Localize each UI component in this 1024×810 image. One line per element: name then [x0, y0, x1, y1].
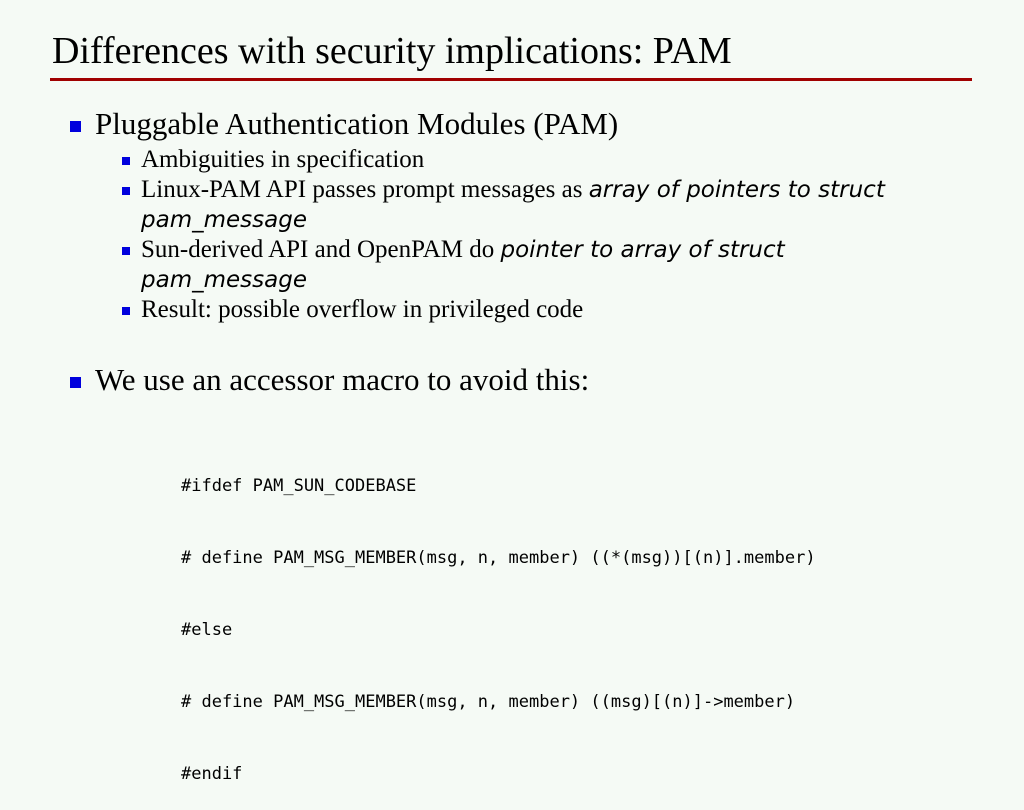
bullet-label: We use an accessor macro to avoid this: — [95, 362, 589, 397]
code-line: #else — [181, 618, 816, 642]
square-bullet-icon — [70, 377, 81, 388]
code-block: #ifdef PAM_SUN_CODEBASE # define PAM_MSG… — [181, 426, 816, 810]
bullet-spacer — [0, 325, 1024, 360]
bullet-label-prefix: Linux-PAM API passes prompt messages as — [141, 176, 589, 203]
square-bullet-icon — [122, 307, 130, 315]
bullet-item-level2: Linux-PAM API passes prompt messages as … — [0, 175, 1024, 235]
bullet-item-level2: Result: possible overflow in privileged … — [0, 295, 1024, 325]
square-bullet-icon — [70, 121, 81, 132]
bullet-label-prefix: Sun-derived API and OpenPAM do — [141, 236, 501, 263]
slide-title-block: Differences with security implications: … — [50, 28, 972, 81]
page-title: Differences with security implications: … — [50, 28, 972, 78]
code-line: # define PAM_MSG_MEMBER(msg, n, member) … — [181, 546, 816, 570]
square-bullet-icon — [122, 157, 130, 165]
bullet-label: Pluggable Authentication Modules (PAM) — [95, 106, 618, 141]
code-line: #endif — [181, 762, 816, 786]
slide-body: Pluggable Authentication Modules (PAM) A… — [0, 104, 1024, 401]
bullet-item-level1: We use an accessor macro to avoid this: — [0, 360, 1024, 399]
title-underline-rule — [50, 78, 972, 81]
code-line: #ifdef PAM_SUN_CODEBASE — [181, 474, 816, 498]
bullet-label: Result: possible overflow in privileged … — [141, 296, 583, 323]
bullet-item-level2: Ambiguities in specification — [0, 145, 1024, 175]
square-bullet-icon — [122, 187, 130, 195]
code-line: # define PAM_MSG_MEMBER(msg, n, member) … — [181, 690, 816, 714]
square-bullet-icon — [122, 247, 130, 255]
bullet-item-level2: Sun-derived API and OpenPAM do pointer t… — [0, 235, 1024, 295]
bullet-item-level1: Pluggable Authentication Modules (PAM) — [0, 104, 1024, 143]
bullet-label: Ambiguities in specification — [141, 146, 424, 173]
